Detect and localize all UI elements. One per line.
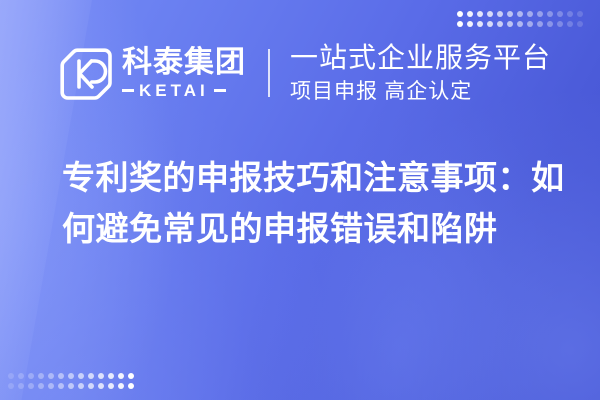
grid-dot [567,21,573,27]
grid-dot [78,373,84,379]
grid-dot [88,373,94,379]
brand-name-en-row: KETAI [122,82,246,99]
grid-dot [58,383,64,389]
grid-dot [577,21,583,27]
grid-dot [28,383,34,389]
grid-dot [507,11,513,17]
grid-dot [28,373,34,379]
grid-dot [18,383,24,389]
grid-dot [38,383,44,389]
grid-dot [477,21,483,27]
grid-dot [48,373,54,379]
grid-dot [108,373,114,379]
brand-name-en: KETAI [139,82,209,99]
grid-dot [497,21,503,27]
grid-dot [537,21,543,27]
grid-dot [487,11,493,17]
article-title: 专利奖的申报技巧和注意事项：如 何避免常见的申报错误和陷阱 [62,152,552,254]
grid-dot [88,383,94,389]
grid-dot [18,373,24,379]
grid-dot [118,383,124,389]
grid-dot [128,383,134,389]
brand-name-cn: 科泰集团 [122,47,246,79]
grid-dot [78,383,84,389]
grid-dot [497,11,503,17]
grid-dot [547,21,553,27]
grid-dot [537,11,543,17]
grid-dot [527,11,533,17]
grid-dot [8,373,14,379]
brand-wordmark: 科泰集团 KETAI [122,47,246,99]
banner-header: 科泰集团 KETAI 一站式企业服务平台 项目申报 高企认定 [0,32,600,114]
grid-dot [98,383,104,389]
grid-dot [517,11,523,17]
grid-dot [457,11,463,17]
grid-dot [457,21,463,27]
tagline-sub: 项目申报 高企认定 [290,79,551,104]
brand-lockup: 科泰集团 KETAI [0,46,246,100]
grid-dot [557,21,563,27]
dash-left-icon [122,89,134,92]
grid-dot [98,373,104,379]
grid-dot [557,11,563,17]
grid-dot [108,383,114,389]
grid-dot [567,11,573,17]
article-cover-banner: 科泰集团 KETAI 一站式企业服务平台 项目申报 高企认定 专利奖的申报技巧和… [0,0,600,400]
grid-dot [128,373,134,379]
grid-dot [507,21,513,27]
header-divider [268,49,270,97]
grid-dot [477,11,483,17]
dash-right-icon [214,89,226,92]
grid-dot [547,11,553,17]
tagline-main: 一站式企业服务平台 [290,42,551,74]
grid-dot [48,383,54,389]
grid-dot [527,21,533,27]
grid-dot [577,11,583,17]
grid-dot [68,373,74,379]
grid-dot [467,21,473,27]
grid-dot [118,373,124,379]
grid-dot [487,21,493,27]
grid-dot [58,373,64,379]
grid-dot [8,383,14,389]
dot-grid-top-right [457,11,583,27]
grid-dot [467,11,473,17]
grid-dot [517,21,523,27]
grid-dot [68,383,74,389]
dot-grid-bottom-left [8,373,134,389]
article-title-line-2: 何避免常见的申报错误和陷阱 [62,203,552,254]
ketai-logo-icon [58,46,112,100]
grid-dot [38,373,44,379]
article-title-line-1: 专利奖的申报技巧和注意事项：如 [62,152,552,203]
tagline-block: 一站式企业服务平台 项目申报 高企认定 [290,42,551,103]
